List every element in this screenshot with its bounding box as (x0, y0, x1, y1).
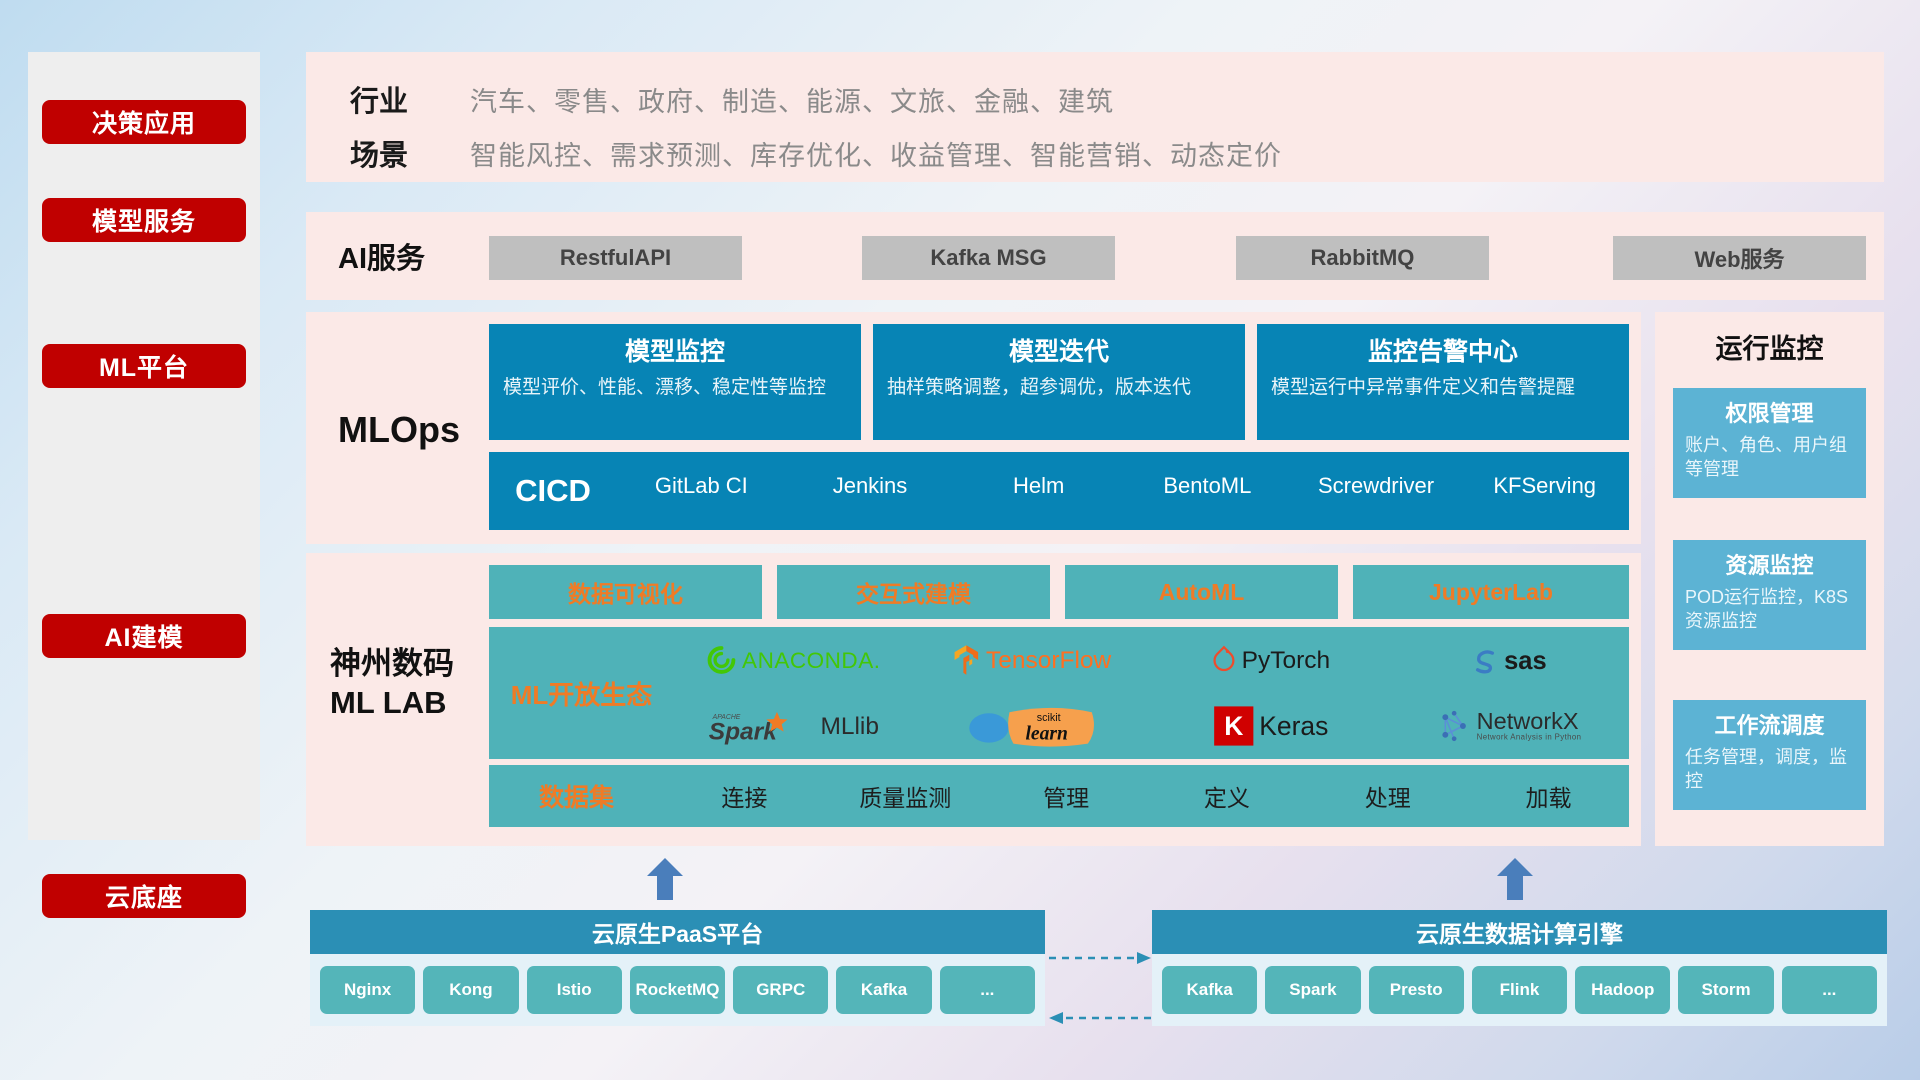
rail-chip-ai-modeling[interactable]: AI建模 (42, 614, 246, 658)
engine-chip-more[interactable]: ... (1782, 966, 1877, 1014)
cloud-chip-kafka[interactable]: Kafka (836, 966, 931, 1014)
tool-chip-label: AutoML (1159, 579, 1245, 606)
tool-chip-automl[interactable]: AutoML (1065, 565, 1338, 619)
sas-logo-text: sas (1504, 645, 1547, 675)
up-arrow-engine-icon (1495, 858, 1535, 900)
engine-chip-storm[interactable]: Storm (1678, 966, 1773, 1014)
card-title: 工作流调度 (1685, 708, 1854, 740)
cloud-engine-title: 云原生数据计算引擎 (1416, 915, 1623, 949)
service-chip-kafka-msg[interactable]: Kafka MSG (862, 236, 1115, 280)
rail-label: 云底座 (105, 878, 183, 914)
dataset-item-connect[interactable]: 连接 (664, 779, 825, 813)
ml-lab-label: 神州数码 ML LAB (330, 645, 454, 723)
mlops-label: MLOps (338, 380, 460, 480)
card-desc: 账户、角色、用户组等管理 (1685, 434, 1854, 482)
card-desc: 模型运行中异常事件定义和告警提醒 (1271, 375, 1615, 400)
card-desc: 模型评价、性能、漂移、稳定性等监控 (503, 375, 847, 400)
cicd-item-gitlab-ci[interactable]: GitLab CI (617, 473, 786, 500)
scenario-key: 场景 (350, 132, 470, 174)
scikit-learn-mark-icon: scikit learn (1004, 704, 1098, 747)
cicd-item-jenkins[interactable]: Jenkins (786, 473, 955, 500)
card-desc: 任务管理，调度，监控 (1685, 746, 1854, 794)
tensorflow-logo[interactable]: TensorFlow (953, 644, 1112, 675)
tool-chip-label: 数据可视化 (568, 575, 683, 609)
cloud-engine-tray: Kafka Spark Presto Flink Hadoop Storm ..… (1152, 954, 1887, 1026)
cloud-engine-header: 云原生数据计算引擎 (1152, 910, 1887, 954)
cicd-item-kfserving[interactable]: KFServing (1460, 473, 1629, 500)
tool-chip-interactive-modeling[interactable]: 交互式建模 (777, 565, 1050, 619)
rail-chip-decision-app[interactable]: 决策应用 (42, 100, 246, 144)
cicd-item-screwdriver[interactable]: Screwdriver (1292, 473, 1461, 500)
mllib-logo-text: MLlib (820, 712, 879, 740)
cloud-chip-more[interactable]: ... (940, 966, 1035, 1014)
mlops-card-model-monitoring[interactable]: 模型监控 模型评价、性能、漂移、稳定性等监控 (489, 324, 861, 440)
service-chip-label: Web服务 (1694, 242, 1784, 274)
cloud-paas-tray: Nginx Kong Istio RocketMQ GRPC Kafka ... (310, 954, 1045, 1026)
sas-mark-icon (1473, 647, 1498, 672)
keras-logo[interactable]: K Keras (1214, 706, 1328, 745)
apache-spark-mark-icon: APACHE Spark (708, 706, 814, 745)
cloud-paas-header: 云原生PaaS平台 (310, 910, 1045, 954)
ecosystem-logo-grid: ANACONDA. TensorFlow PyTorch (674, 627, 1629, 759)
engine-chip-kafka[interactable]: Kafka (1162, 966, 1257, 1014)
keras-k-mark-icon: K (1214, 706, 1253, 745)
cloud-link-arrows-icon (1045, 944, 1155, 1034)
ml-lab-label-line1: 神州数码 (330, 646, 454, 681)
dataset-item-manage[interactable]: 管理 (986, 779, 1147, 813)
cloud-paas-title: 云原生PaaS平台 (592, 915, 763, 949)
tensorflow-mark-icon (953, 644, 980, 675)
industry-value: 汽车、零售、政府、制造、能源、文旅、金融、建筑 (470, 80, 1114, 119)
card-title: 模型迭代 (887, 332, 1231, 368)
rail-label: 模型服务 (92, 202, 196, 238)
scenario-value: 智能风控、需求预测、库存优化、收益管理、智能营销、动态定价 (470, 134, 1282, 173)
mlops-card-model-iteration[interactable]: 模型迭代 抽样策略调整，超参调优，版本迭代 (873, 324, 1245, 440)
application-row-industry: 行业 汽车、零售、政府、制造、能源、文旅、金融、建筑 (350, 78, 1114, 120)
tool-chip-label: JupyterLab (1429, 579, 1553, 606)
ecosystem-title: ML开放生态 (489, 675, 674, 712)
monitoring-title: 运行监控 (1655, 318, 1884, 374)
pytorch-flame-icon (1212, 645, 1236, 674)
tool-chip-data-visualization[interactable]: 数据可视化 (489, 565, 762, 619)
monitor-card-resource[interactable]: 资源监控 POD运行监控，K8S资源监控 (1673, 540, 1866, 650)
anaconda-logo[interactable]: ANACONDA. (707, 645, 881, 674)
svg-text:learn: learn (1026, 724, 1068, 745)
application-row-scenario: 场景 智能风控、需求预测、库存优化、收益管理、智能营销、动态定价 (350, 132, 1282, 174)
cloud-chip-grpc[interactable]: GRPC (733, 966, 828, 1014)
rail-chip-ml-platform[interactable]: ML平台 (42, 344, 246, 388)
networkx-tagline: Network Analysis in Python (1477, 734, 1582, 742)
industry-key: 行业 (350, 78, 470, 120)
tool-chip-label: 交互式建模 (856, 575, 971, 609)
card-desc: 抽样策略调整，超参调优，版本迭代 (887, 375, 1231, 400)
layer-rail: 决策应用 模型服务 ML平台 AI建模 云底座 (28, 52, 260, 840)
card-title: 监控告警中心 (1271, 332, 1615, 368)
card-desc: POD运行监控，K8S资源监控 (1685, 586, 1854, 634)
svg-text:Spark: Spark (708, 719, 777, 746)
dataset-item-process[interactable]: 处理 (1307, 779, 1468, 813)
tool-chip-jupyterlab[interactable]: JupyterLab (1353, 565, 1629, 619)
engine-chip-flink[interactable]: Flink (1472, 966, 1567, 1014)
networkx-logo[interactable]: NetworkX Network Analysis in Python (1438, 709, 1582, 742)
anaconda-logo-text: ANACONDA. (742, 647, 880, 673)
service-chip-rabbitmq[interactable]: RabbitMQ (1236, 236, 1489, 280)
service-chip-label: RestfulAPI (560, 245, 671, 271)
dataset-bar: 数据集 连接 质量监测 管理 定义 处理 加载 (489, 765, 1629, 827)
rail-label: 决策应用 (92, 104, 196, 140)
engine-chip-presto[interactable]: Presto (1369, 966, 1464, 1014)
networkx-logo-text: NetworkX (1477, 710, 1582, 734)
card-title: 权限管理 (1685, 396, 1854, 428)
sas-logo[interactable]: sas (1473, 645, 1547, 675)
rail-chip-cloud-base[interactable]: 云底座 (42, 874, 246, 918)
networkx-graph-icon (1438, 709, 1471, 742)
cicd-bar: CICD GitLab CI Jenkins Helm BentoML Scre… (489, 452, 1629, 530)
dataset-title: 数据集 (489, 778, 664, 814)
engine-chip-hadoop[interactable]: Hadoop (1575, 966, 1670, 1014)
card-title: 模型监控 (503, 332, 847, 368)
ml-open-ecosystem: ML开放生态 ANACONDA. TensorFlow (489, 627, 1629, 759)
spark-mllib-logo[interactable]: APACHE Spark MLlib (708, 706, 878, 745)
monitor-card-workflow[interactable]: 工作流调度 任务管理，调度，监控 (1673, 700, 1866, 810)
cicd-item-helm[interactable]: Helm (954, 473, 1123, 500)
ml-lab-label-line2: ML LAB (330, 685, 447, 720)
keras-logo-text: Keras (1259, 711, 1328, 741)
rail-chip-model-service[interactable]: 模型服务 (42, 198, 246, 242)
service-chip-label: RabbitMQ (1311, 245, 1415, 271)
dataset-item-load[interactable]: 加载 (1468, 779, 1629, 813)
cloud-chip-istio[interactable]: Istio (527, 966, 622, 1014)
cloud-chip-rocketmq[interactable]: RocketMQ (630, 966, 725, 1014)
engine-chip-spark[interactable]: Spark (1265, 966, 1360, 1014)
pytorch-logo[interactable]: PyTorch (1212, 645, 1330, 674)
service-chip-restfulapi[interactable]: RestfulAPI (489, 236, 742, 280)
up-arrow-paas-icon (645, 858, 685, 900)
service-chip-web-service[interactable]: Web服务 (1613, 236, 1866, 280)
monitor-card-permission[interactable]: 权限管理 账户、角色、用户组等管理 (1673, 388, 1866, 498)
cicd-title: CICD (489, 473, 617, 509)
tensorflow-logo-text: TensorFlow (986, 646, 1111, 674)
svg-text:scikit: scikit (1037, 712, 1061, 724)
rail-label: AI建模 (104, 618, 183, 654)
ai-service-label: AI服务 (338, 212, 425, 300)
dataset-item-quality[interactable]: 质量监测 (825, 779, 986, 813)
anaconda-mark-icon (707, 645, 736, 674)
rail-label: ML平台 (99, 348, 189, 384)
architecture-diagram: 决策应用 模型服务 ML平台 AI建模 云底座 行业 汽车、零售、政府、制造、能… (0, 0, 1920, 1080)
cloud-chip-nginx[interactable]: Nginx (320, 966, 415, 1014)
card-title: 资源监控 (1685, 548, 1854, 580)
pytorch-logo-text: PyTorch (1241, 646, 1330, 674)
scikit-learn-logo[interactable]: scikit learn (966, 704, 1097, 747)
cicd-item-bentoml[interactable]: BentoML (1123, 473, 1292, 500)
dataset-item-define[interactable]: 定义 (1146, 779, 1307, 813)
service-chip-label: Kafka MSG (930, 245, 1046, 271)
mlops-card-alert-center[interactable]: 监控告警中心 模型运行中异常事件定义和告警提醒 (1257, 324, 1629, 440)
cloud-chip-kong[interactable]: Kong (423, 966, 518, 1014)
